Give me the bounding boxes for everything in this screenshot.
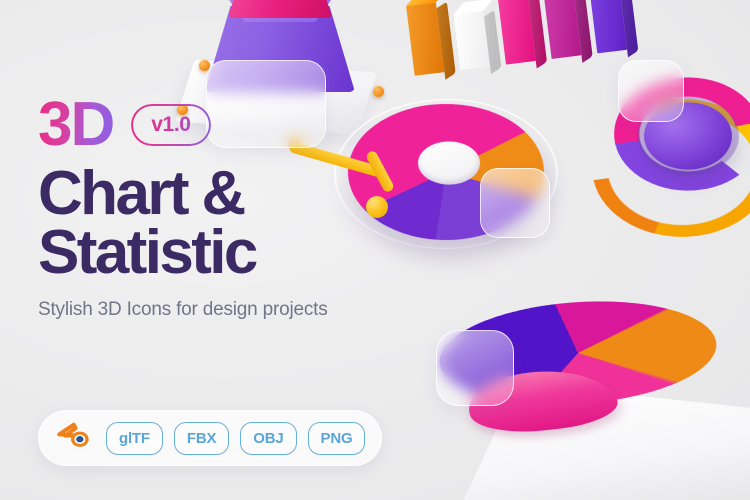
pyramid-tier-middle bbox=[228, 0, 332, 18]
format-badge-fbx[interactable]: FBX bbox=[174, 422, 229, 455]
page-title-line-2: Statistic bbox=[38, 224, 438, 283]
bar-column bbox=[540, 0, 582, 59]
version-badge: v1.0 bbox=[131, 104, 210, 146]
hero-text-block: 3D v1.0 Chart & Statistic Stylish 3D Ico… bbox=[38, 96, 438, 321]
logo-3d-text: 3D bbox=[38, 96, 113, 155]
page-title: Chart & Statistic bbox=[38, 165, 438, 283]
glass-card-overlay bbox=[618, 60, 684, 122]
blender-icon bbox=[55, 421, 95, 455]
bar-column bbox=[496, 0, 536, 65]
file-format-bar: glTF FBX OBJ PNG bbox=[38, 410, 382, 466]
promo-artboard: 3D v1.0 Chart & Statistic Stylish 3D Ico… bbox=[0, 0, 750, 500]
glass-card-overlay bbox=[436, 330, 514, 406]
format-badge-png[interactable]: PNG bbox=[308, 422, 366, 455]
format-badge-obj[interactable]: OBJ bbox=[240, 422, 296, 455]
subtitle: Stylish 3D Icons for design projects bbox=[38, 299, 438, 321]
logo-row: 3D v1.0 bbox=[38, 96, 438, 155]
glass-card-overlay bbox=[480, 168, 550, 238]
format-badge-gltf[interactable]: glTF bbox=[106, 422, 163, 455]
